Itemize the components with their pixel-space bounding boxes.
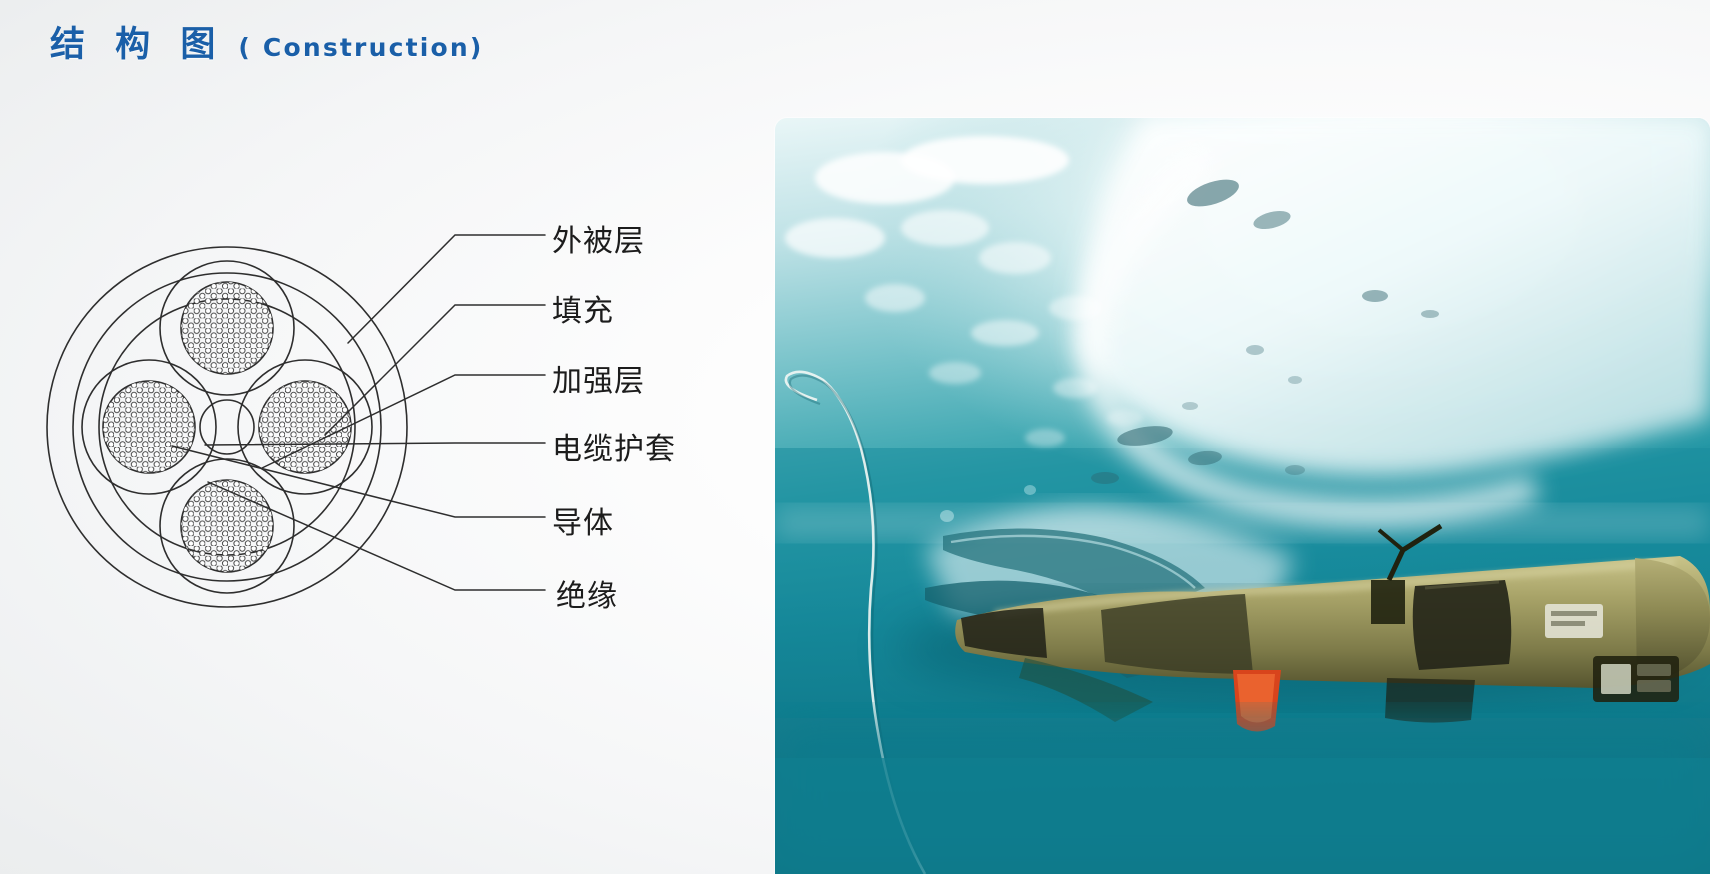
page-title-cn: 结 构 图 (50, 16, 224, 67)
underwater-scene (775, 118, 1710, 874)
cable-diagram: 外被层 填充 加强层 电缆护套 导体 绝缘 (0, 150, 720, 710)
callout-label-filler: 填充 (552, 286, 614, 330)
auv-sensor-pod (1593, 656, 1679, 702)
leader-outer-sheath (348, 235, 545, 343)
auv-mid-band (1413, 580, 1512, 670)
callout-label-outer-sheath: 外被层 (552, 216, 645, 260)
auv-ventral-strut (1385, 678, 1475, 723)
leader-filler (325, 305, 545, 435)
page-root: 结 构 图 ( Construction) (0, 0, 1710, 874)
page-title-en: ( Construction) (238, 33, 483, 62)
callout-label-strength-member: 加强层 (552, 356, 645, 400)
central-filler (200, 400, 254, 454)
callout-label-insulation: 绝缘 (556, 571, 618, 615)
conductor-strands (97, 276, 357, 578)
callout-label-cable-jacket: 电缆护套 (552, 424, 676, 468)
page-title: 结 构 图 ( Construction) (50, 16, 484, 67)
underwater-auv-photo (775, 118, 1710, 874)
water-light-band (775, 506, 1710, 540)
callout-label-conductor: 导体 (552, 498, 614, 542)
leader-cable-jacket (205, 443, 545, 445)
